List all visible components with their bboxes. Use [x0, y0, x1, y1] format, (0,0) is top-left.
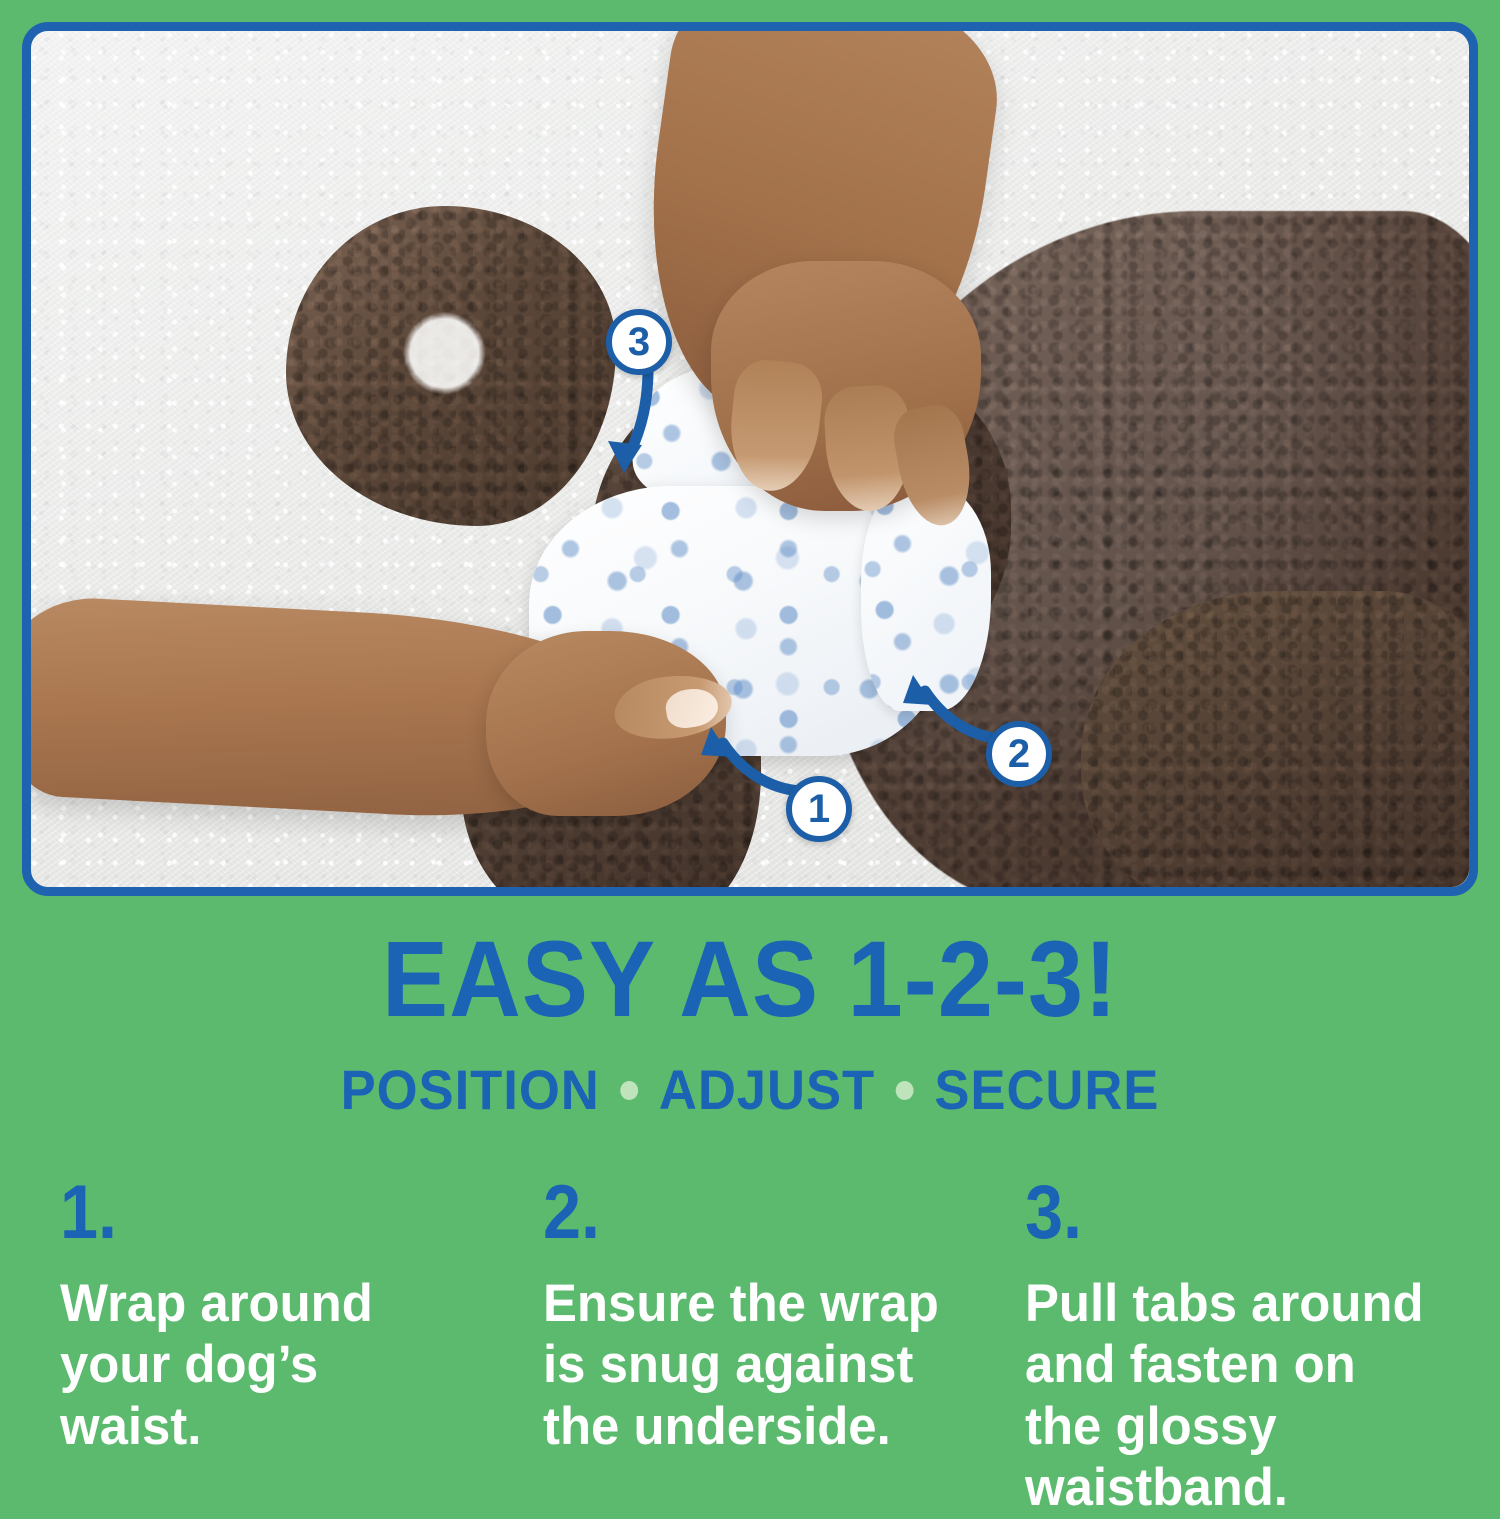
step-number-1: 1.	[60, 1175, 442, 1251]
subhead-steps-summary: POSITION ADJUST SECURE	[45, 1062, 1455, 1118]
step-number-2: 2.	[543, 1175, 925, 1251]
step-item-1: 1. Wrap around your dog’s waist.	[60, 1175, 485, 1519]
photo-inner: 1 2 3	[31, 31, 1469, 887]
product-demo-photo: 1 2 3	[22, 22, 1478, 896]
separator-dot-icon	[620, 1081, 638, 1100]
step-number-3: 3.	[1025, 1175, 1407, 1251]
step-text-2: Ensure the wrap is snug against the unde…	[543, 1273, 951, 1457]
step-item-2: 2. Ensure the wrap is snug against the u…	[543, 1175, 968, 1519]
step-text-3: Pull tabs around and fasten on the gloss…	[1025, 1273, 1433, 1519]
headline-title: EASY AS 1-2-3!	[60, 925, 1440, 1033]
step-item-3: 3. Pull tabs around and fasten on the gl…	[1025, 1175, 1450, 1519]
infographic-poster: 1 2 3 EASY AS 1-2-3! POSITION ADJUST SEC…	[0, 0, 1500, 1500]
steps-row: 1. Wrap around your dog’s waist. 2. Ensu…	[60, 1175, 1450, 1519]
callout-badge-2: 2	[986, 721, 1052, 787]
step-text-1: Wrap around your dog’s waist.	[60, 1273, 468, 1457]
subhead-word-secure: SECURE	[934, 1062, 1159, 1118]
callout-badge-3: 3	[606, 309, 672, 375]
separator-dot-icon	[896, 1081, 914, 1100]
subhead-word-adjust: ADJUST	[659, 1062, 875, 1118]
subhead-word-position: POSITION	[341, 1062, 600, 1118]
callout-badge-1: 1	[786, 776, 852, 842]
